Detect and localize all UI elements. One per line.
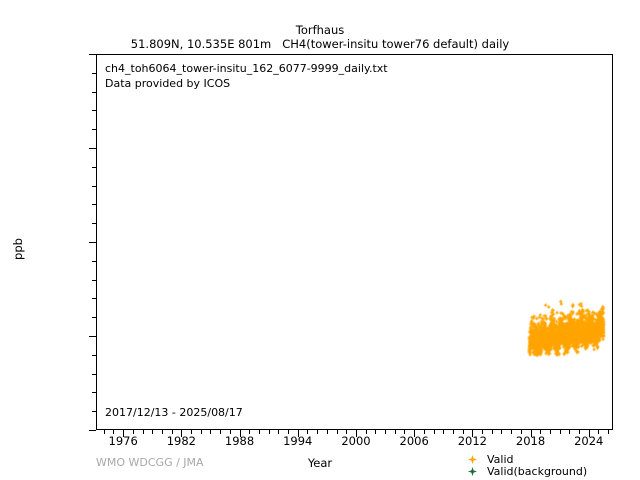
x-tick-minor bbox=[143, 430, 144, 434]
y-tick-minor bbox=[92, 280, 96, 281]
x-tick-minor bbox=[385, 430, 386, 434]
y-tick-major bbox=[89, 242, 96, 243]
y-tick-major bbox=[89, 148, 96, 149]
data-provider-label: Data provided by ICOS bbox=[105, 76, 388, 91]
x-tick-label: 2024 bbox=[574, 434, 603, 448]
y-tick-minor bbox=[92, 73, 96, 74]
data-filename-label: ch4_toh6064_tower-insitu_162_6077-9999_d… bbox=[105, 61, 388, 76]
y-tick-minor bbox=[92, 223, 96, 224]
y-tick-minor bbox=[92, 186, 96, 187]
x-tick-label: 2012 bbox=[458, 434, 487, 448]
x-tick-minor bbox=[492, 430, 493, 434]
x-tick-label: 2006 bbox=[400, 434, 429, 448]
x-tick-minor bbox=[201, 430, 202, 434]
x-tick-minor bbox=[210, 430, 211, 434]
page-title: Torfhaus bbox=[0, 24, 640, 37]
station-coordinates: 51.809N, 10.535E 801m bbox=[131, 37, 271, 51]
plot-annotation-block: ch4_toh6064_tower-insitu_162_6077-9999_d… bbox=[105, 61, 388, 91]
legend-label: Valid(background) bbox=[487, 466, 587, 478]
plot-area: ch4_toh6064_tower-insitu_162_6077-9999_d… bbox=[96, 54, 613, 430]
x-tick-minor bbox=[269, 430, 270, 434]
y-tick-minor bbox=[92, 298, 96, 299]
y-tick-minor bbox=[92, 92, 96, 93]
x-tick-minor bbox=[327, 430, 328, 434]
x-tick-minor bbox=[220, 430, 221, 434]
x-tick-minor bbox=[278, 430, 279, 434]
footer-credit: WMO WDCGG / JMA bbox=[96, 456, 204, 469]
x-tick-minor bbox=[560, 430, 561, 434]
chart-legend: Valid Valid(background) bbox=[466, 454, 587, 478]
x-tick-label: 2000 bbox=[341, 434, 370, 448]
y-tick-major bbox=[89, 54, 96, 55]
x-tick-minor bbox=[434, 430, 435, 434]
y-tick-major bbox=[89, 430, 96, 431]
x-tick-minor bbox=[375, 430, 376, 434]
y-tick-minor bbox=[92, 167, 96, 168]
y-tick-minor bbox=[92, 129, 96, 130]
x-tick-minor bbox=[550, 430, 551, 434]
y-tick-minor bbox=[92, 204, 96, 205]
x-tick-minor bbox=[317, 430, 318, 434]
x-tick-minor bbox=[511, 430, 512, 434]
x-tick-minor bbox=[337, 430, 338, 434]
y-tick-minor bbox=[92, 411, 96, 412]
x-tick-minor bbox=[443, 430, 444, 434]
diamond-plus-marker-icon bbox=[466, 454, 480, 466]
legend-item-valid-background[interactable]: Valid(background) bbox=[466, 466, 587, 478]
x-tick-minor bbox=[453, 430, 454, 434]
date-range-label: 2017/12/13 - 2025/08/17 bbox=[105, 406, 243, 419]
x-tick-label: 1976 bbox=[109, 434, 138, 448]
y-tick-minor bbox=[92, 317, 96, 318]
y-tick-minor bbox=[92, 261, 96, 262]
x-tick-label: 2018 bbox=[516, 434, 545, 448]
x-tick-minor bbox=[104, 430, 105, 434]
y-tick-minor bbox=[92, 392, 96, 393]
chart-title-block: Torfhaus 51.809N, 10.535E 801m CH4(tower… bbox=[0, 24, 640, 51]
y-tick-major bbox=[89, 336, 96, 337]
y-axis-title: ppb bbox=[11, 219, 25, 279]
x-tick-minor bbox=[162, 430, 163, 434]
x-tick-label: 1994 bbox=[283, 434, 312, 448]
y-tick-minor bbox=[92, 110, 96, 111]
y-tick-minor bbox=[92, 355, 96, 356]
x-tick-minor bbox=[395, 430, 396, 434]
x-tick-minor bbox=[152, 430, 153, 434]
x-tick-minor bbox=[608, 430, 609, 434]
diamond-plus-marker-icon bbox=[466, 466, 480, 478]
x-tick-label: 1988 bbox=[225, 434, 254, 448]
scatter-plot-canvas bbox=[97, 55, 612, 429]
chart-subtitle: 51.809N, 10.535E 801m CH4(tower-insitu t… bbox=[0, 38, 640, 51]
x-tick-label: 1982 bbox=[167, 434, 196, 448]
x-tick-minor bbox=[501, 430, 502, 434]
x-tick-minor bbox=[569, 430, 570, 434]
x-tick-minor bbox=[259, 430, 260, 434]
y-tick-minor bbox=[92, 374, 96, 375]
parameter-label: CH4(tower-insitu tower76 default) daily bbox=[282, 37, 509, 51]
